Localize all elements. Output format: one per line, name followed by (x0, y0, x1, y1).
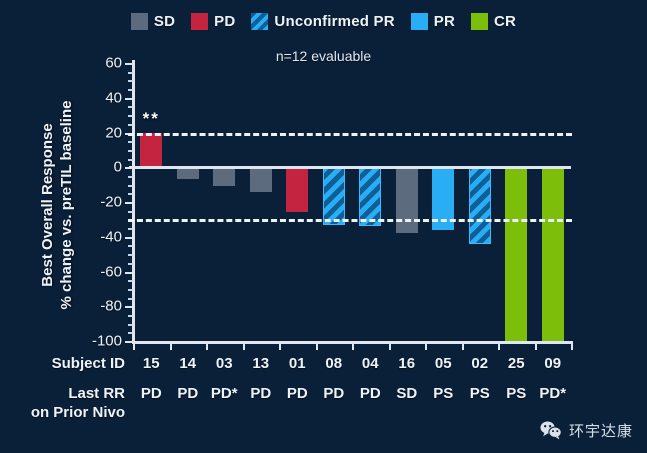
last-rr-cell: PS (433, 385, 453, 402)
bar-subject-02[interactable] (469, 167, 491, 243)
legend-label: SD (154, 13, 175, 30)
legend-swatch-icon (251, 13, 268, 30)
last-rr-row: Last RR on Prior Nivo PDPDPD*PDPDPDPDSDP… (133, 385, 571, 405)
bar-subject-13[interactable] (250, 167, 272, 191)
bar-subject-04[interactable] (359, 167, 381, 226)
x-tick (571, 341, 573, 350)
subject-id-cell: 02 (471, 355, 488, 372)
y-tick-major (125, 341, 133, 343)
waterfall-chart-figure: SDPDUnconfirmed PRPRCR n=12 evaluable % … (0, 0, 647, 453)
bar-subject-09[interactable] (542, 167, 564, 341)
legend-item-unconfirmed-pr: Unconfirmed PR (251, 13, 394, 30)
y-tick-label: -40 (100, 228, 122, 245)
subject-id-cell: 15 (143, 355, 160, 372)
legend-item-sd: SD (131, 13, 175, 30)
y-tick-label: -100 (92, 333, 122, 350)
x-tick (462, 341, 464, 350)
legend-swatch-icon (131, 13, 148, 30)
subject-id-row-label: Subject ID (52, 355, 125, 372)
subject-id-cell: 08 (325, 355, 342, 372)
watermark-text: 环宇达康 (569, 420, 633, 441)
legend-label: PR (434, 13, 455, 30)
y-tick-major (125, 63, 133, 65)
last-rr-cell: PS (470, 385, 490, 402)
bar-subject-16[interactable] (396, 167, 418, 233)
subject-id-cell: 01 (289, 355, 306, 372)
legend-swatch-icon (411, 13, 428, 30)
y-tick-label: 20 (105, 124, 122, 141)
last-rr-cell: PD (323, 385, 344, 402)
wechat-icon (540, 421, 562, 440)
subject-id-cell: 05 (435, 355, 452, 372)
y-tick-label: 0 (114, 159, 122, 176)
x-tick (389, 341, 391, 350)
subject-id-cell: 03 (216, 355, 233, 372)
y-axis-title-line1: Best Overall Response (38, 123, 57, 286)
watermark: 环宇达康 (540, 420, 633, 441)
reference-line (128, 219, 572, 222)
last-rr-cell: PD (177, 385, 198, 402)
y-tick-label: 40 (105, 89, 122, 106)
x-tick (352, 341, 354, 350)
y-tick-major (125, 306, 133, 308)
sample-size-annotation: n=12 evaluable (0, 48, 647, 64)
subject-id-cell: 09 (544, 355, 561, 372)
last-rr-cell: PD (141, 385, 162, 402)
last-rr-cell: PD* (211, 385, 238, 402)
bar-annotation-asterisk: ** (143, 109, 160, 129)
y-tick-label: -80 (100, 298, 122, 315)
x-tick (170, 341, 172, 350)
x-tick (243, 341, 245, 350)
y-tick-label: 60 (105, 55, 122, 72)
plot-area: ** (133, 63, 571, 341)
subject-id-cell: 13 (252, 355, 269, 372)
last-rr-cell: PD (250, 385, 271, 402)
last-rr-cell: SD (396, 385, 417, 402)
x-tick (498, 341, 500, 350)
last-rr-cell: PS (506, 385, 526, 402)
bar-subject-01[interactable] (286, 167, 308, 212)
subject-id-cell: 14 (179, 355, 196, 372)
last-rr-row-label-line1: Last RR (68, 385, 125, 402)
y-tick-major (125, 202, 133, 204)
legend-label: CR (494, 13, 516, 30)
y-tick-major (125, 98, 133, 100)
legend-item-pd: PD (191, 13, 235, 30)
subject-id-row: Subject ID 151403130108041605022509 (133, 355, 571, 375)
subject-id-cell: 25 (508, 355, 525, 372)
subject-id-cell: 16 (398, 355, 415, 372)
bar-subject-25[interactable] (505, 167, 527, 341)
x-tick (535, 341, 537, 350)
y-axis-title: % change vs. preTIL baseline Best Overal… (37, 60, 77, 350)
y-tick-label: -60 (100, 263, 122, 280)
y-tick-label: -20 (100, 194, 122, 211)
x-tick (279, 341, 281, 350)
last-rr-cell: PD* (539, 385, 566, 402)
legend-item-cr: CR (471, 13, 516, 30)
reference-line (128, 133, 572, 136)
legend-label: PD (214, 13, 235, 30)
bar-subject-15[interactable] (140, 133, 162, 168)
y-tick-major (125, 237, 133, 239)
last-rr-row-label-line2: on Prior Nivo (31, 404, 125, 421)
x-tick (425, 341, 427, 350)
y-tick-major (125, 272, 133, 274)
legend-item-pr: PR (411, 13, 455, 30)
zero-baseline (129, 166, 571, 169)
bar-subject-08[interactable] (323, 167, 345, 224)
legend-swatch-icon (471, 13, 488, 30)
last-rr-cell: PD (287, 385, 308, 402)
bar-subject-03[interactable] (213, 167, 235, 186)
last-rr-cell: PD (360, 385, 381, 402)
subject-id-cell: 04 (362, 355, 379, 372)
y-axis-title-line2: % change vs. preTIL baseline (57, 101, 76, 310)
x-tick (206, 341, 208, 350)
legend-label: Unconfirmed PR (274, 13, 394, 30)
legend-swatch-icon (191, 13, 208, 30)
chart-legend: SDPDUnconfirmed PRPRCR (0, 13, 647, 30)
x-tick (133, 341, 135, 350)
x-tick (316, 341, 318, 350)
